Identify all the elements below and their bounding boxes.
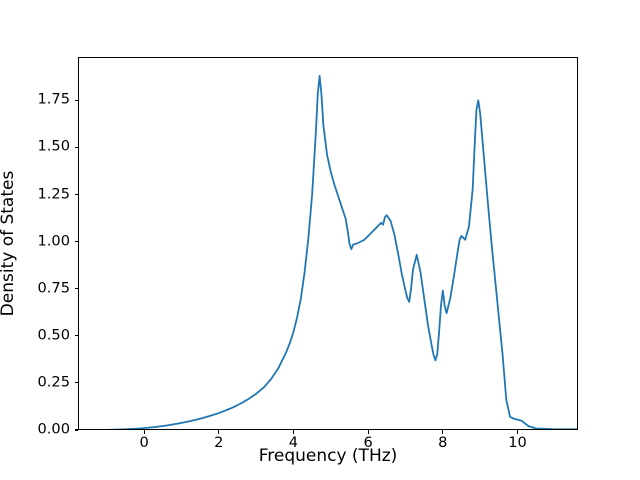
y-tick-label: 0.50 [38,329,71,344]
y-tick-mark [75,100,79,101]
y-tick-mark [75,241,79,242]
y-tick-mark [75,429,79,430]
y-tick-label: 0.75 [38,281,71,296]
y-tick-mark [75,194,79,195]
y-tick-mark [75,288,79,289]
y-tick-label: 1.00 [38,234,71,249]
y-tick-mark [75,147,79,148]
x-tick-mark [442,430,443,434]
plot-area [78,57,578,430]
y-tick-mark [75,382,79,383]
x-tick-mark [368,430,369,434]
dos-curve [78,57,578,430]
y-tick-label: 1.75 [38,93,71,108]
x-tick-mark [293,430,294,434]
y-tick-label: 0.00 [38,423,71,438]
x-axis-label: Frequency (THz) [78,448,578,465]
y-tick-mark [75,335,79,336]
y-tick-label: 1.50 [38,140,71,155]
x-tick-mark [218,430,219,434]
x-tick-mark [517,430,518,434]
y-tick-label: 0.25 [38,376,71,391]
y-tick-label: 1.25 [38,187,71,202]
figure-canvas: 02468100.000.250.500.751.001.251.501.75 … [0,0,640,480]
x-tick-mark [144,430,145,434]
y-axis-label: Density of States [0,57,20,430]
